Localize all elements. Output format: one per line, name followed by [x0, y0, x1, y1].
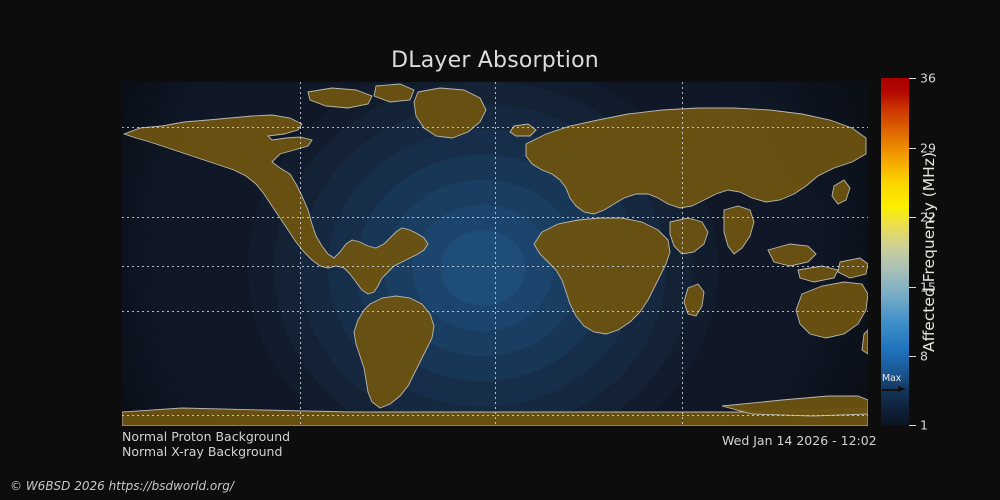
landmass-australia [796, 282, 868, 338]
landmass-indonesia-a [768, 244, 816, 266]
colorbar-tick-15 [909, 287, 916, 288]
page-title: DLayer Absorption [0, 48, 990, 73]
arrow-right-icon [882, 386, 906, 393]
landmass-eurasia [526, 108, 866, 214]
colorbar-axis-title: Affected Frequency (MHz) [916, 78, 942, 426]
colorbar-tick-29 [909, 148, 916, 149]
landmass-africa [534, 218, 670, 334]
landmass-greenland [414, 88, 486, 138]
landmass-arctic-islands-a [308, 88, 372, 108]
status-block: Normal Proton Background Normal X-ray Ba… [122, 429, 290, 459]
colorbar-tick-22 [909, 217, 916, 218]
status-xray-background: Normal X-ray Background [122, 444, 290, 459]
landmass-north-america [124, 115, 428, 294]
gridline-longitude-120e [682, 82, 683, 426]
copyright-credit: © W6BSD 2026 https://bsdworld.org/ [10, 479, 234, 493]
landmass-indonesia-b [798, 266, 838, 282]
colorbar-tick-1 [909, 425, 916, 426]
landmass-new-zealand [862, 330, 868, 354]
landmass-iceland [510, 124, 536, 136]
landmass-arctic-islands-b [374, 84, 414, 102]
colorbar-axis-title-text: Affected Frequency (MHz) [920, 152, 938, 352]
gridline-longitude-0 [495, 82, 496, 426]
landmass-south-america [354, 296, 434, 408]
colorbar-max-label: Max [881, 374, 909, 384]
colorbar-tick-36 [909, 78, 916, 79]
timestamp: Wed Jan 14 2026 - 12:02 [722, 433, 877, 448]
landmass-arabia [670, 218, 708, 254]
colorbar-tick-8 [909, 356, 916, 357]
status-proton-background: Normal Proton Background [122, 429, 290, 444]
colorbar[interactable]: 36 29 22 15 8 1 Max [881, 78, 909, 426]
landmass-india [724, 206, 754, 254]
world-map-panel[interactable] [122, 82, 868, 426]
landmass-new-guinea [838, 258, 868, 278]
colorbar-max-marker: Max [881, 374, 909, 400]
chart-canvas: DLayer Absorption [0, 0, 1000, 500]
landmass-japan [832, 180, 850, 204]
gridline-longitude-120w [300, 82, 301, 426]
